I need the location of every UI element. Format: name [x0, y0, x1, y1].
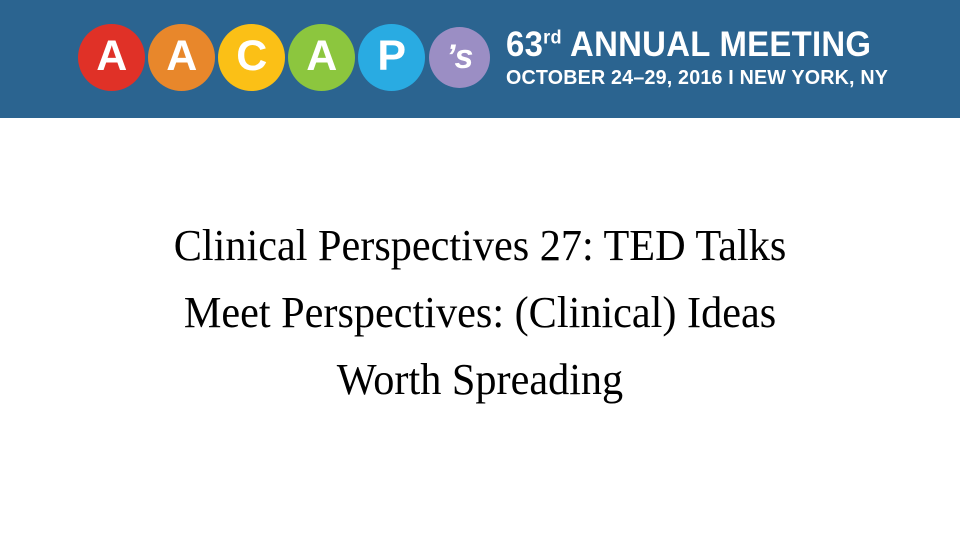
- logo-dot-letter: A: [306, 35, 337, 78]
- conference-header-banner: A A C A P ’s 63rd ANNUAL MEETING OCTOBER…: [0, 0, 960, 118]
- slide-title-line-1: Clinical Perspectives 27: TED Talks: [67, 212, 893, 279]
- slide-title-line-2: Meet Perspectives: (Clinical) Ideas: [67, 279, 893, 346]
- logo-dot-letter: A: [96, 35, 127, 78]
- meeting-title: 63rd ANNUAL MEETING: [506, 26, 880, 64]
- meeting-date-location: OCTOBER 24–29, 2016 I NEW YORK, NY: [506, 66, 888, 90]
- meeting-ordinal-suffix: rd: [543, 27, 562, 48]
- logo-dot-a-red: A: [78, 24, 145, 91]
- meeting-number: 63: [506, 25, 543, 64]
- logo-dot-p-blue: P: [358, 24, 425, 91]
- slide-title: Clinical Perspectives 27: TED Talks Meet…: [50, 212, 910, 413]
- logo-dot-a-green: A: [288, 24, 355, 91]
- logo-dot-letter: ’s: [446, 40, 473, 74]
- logo-dot-letter: C: [236, 35, 267, 78]
- presentation-slide: A A C A P ’s 63rd ANNUAL MEETING OCTOBER…: [0, 0, 960, 540]
- meeting-info: 63rd ANNUAL MEETING OCTOBER 24–29, 2016 …: [506, 26, 904, 90]
- slide-title-line-3: Worth Spreading: [67, 346, 893, 413]
- logo-dot-letter: P: [377, 35, 405, 78]
- meeting-title-rest: ANNUAL MEETING: [562, 25, 871, 64]
- logo-dot-c-yellow: C: [218, 24, 285, 91]
- logo-dot-a-orange: A: [148, 24, 215, 91]
- logo-dot-letter: A: [166, 35, 197, 78]
- logo-dot-apostrophe-s-purple: ’s: [429, 27, 490, 88]
